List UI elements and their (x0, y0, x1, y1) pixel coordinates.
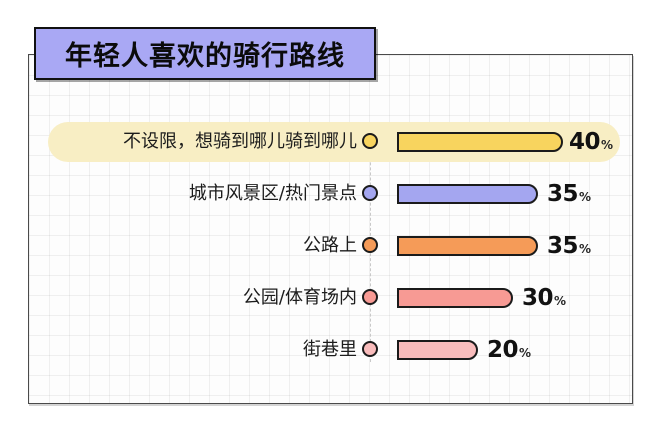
row-marker-dot (362, 341, 378, 357)
row-value-number: 30 (522, 285, 553, 311)
row-bar (397, 340, 478, 360)
chart-row[interactable]: 城市风景区/热门景点 35% (28, 174, 633, 214)
chart-row[interactable]: 公路上 35% (28, 226, 633, 266)
row-value-number: 40 (569, 129, 600, 155)
row-marker-dot (362, 133, 378, 149)
row-label: 公园/体育场内 (243, 278, 357, 318)
row-value-percent-sign: % (601, 138, 613, 152)
row-value: 35% (547, 226, 591, 266)
chart-row[interactable]: 公园/体育场内 30% (28, 278, 633, 318)
row-value: 35% (547, 174, 591, 214)
row-marker-dot (362, 237, 378, 253)
chart-row[interactable]: 街巷里 20% (28, 330, 633, 370)
row-value: 40% (569, 122, 613, 162)
row-bar (397, 288, 513, 308)
row-value: 30% (522, 278, 566, 318)
row-value-number: 35 (547, 181, 578, 207)
row-bar (397, 184, 538, 204)
row-value: 20% (487, 330, 531, 370)
row-label: 不设限，想骑到哪儿骑到哪儿 (123, 122, 357, 162)
row-bar (397, 132, 563, 152)
row-label: 街巷里 (303, 330, 357, 370)
row-marker-dot (362, 289, 378, 305)
row-marker-dot (362, 185, 378, 201)
chart-plot-area: 不设限，想骑到哪儿骑到哪儿 40% 城市风景区/热门景点 35% 公路上 35%… (28, 54, 633, 404)
row-value-number: 20 (487, 337, 518, 363)
row-label: 公路上 (303, 226, 357, 266)
row-value-percent-sign: % (519, 346, 531, 360)
row-label: 城市风景区/热门景点 (189, 174, 357, 214)
row-value-percent-sign: % (554, 294, 566, 308)
row-value-percent-sign: % (579, 242, 591, 256)
row-value-number: 35 (547, 233, 578, 259)
chart-title-badge: 年轻人喜欢的骑行路线 (34, 27, 376, 80)
page-title: 年轻人喜欢的骑行路线 (65, 34, 345, 73)
chart-row[interactable]: 不设限，想骑到哪儿骑到哪儿 40% (28, 122, 633, 162)
row-bar (397, 236, 538, 256)
row-value-percent-sign: % (579, 190, 591, 204)
